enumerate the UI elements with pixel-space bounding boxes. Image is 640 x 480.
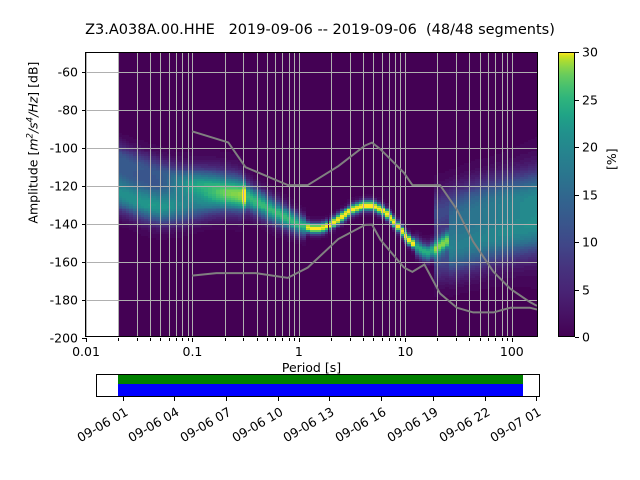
colorbar-tick [575, 100, 579, 101]
colorbar [558, 52, 575, 337]
x-tick [299, 338, 300, 342]
colorbar-tick [575, 290, 579, 291]
ppsd-axes: 0.010.1110100-200-180-160-140-120-100-80… [85, 52, 538, 337]
x-tick-label: 1 [295, 344, 303, 359]
y-tick-label: -160 [50, 255, 78, 270]
colorbar-tick [575, 337, 579, 338]
x-tick [192, 338, 193, 342]
timeline-tick [226, 397, 227, 401]
x-tick-minor [495, 338, 496, 341]
x-tick-label: 0.01 [72, 344, 100, 359]
timeline-tick [381, 397, 382, 401]
y-tick-label: -140 [50, 217, 78, 232]
x-tick-minor [282, 338, 283, 341]
x-tick-minor [382, 338, 383, 341]
x-tick-minor [176, 338, 177, 341]
x-tick [86, 338, 87, 342]
y-tick [82, 224, 86, 225]
y-tick-label: -100 [50, 141, 78, 156]
x-tick-minor [350, 338, 351, 341]
timeline-blue-bar [118, 384, 523, 396]
x-tick-minor [437, 338, 438, 341]
y-tick-label: -120 [50, 179, 78, 194]
colorbar-tick [575, 195, 579, 196]
colorbar-tick-label: 10 [582, 235, 598, 250]
x-tick-minor [275, 338, 276, 341]
x-tick-minor [331, 338, 332, 341]
colorbar-tick [575, 52, 579, 53]
coverage-timeline[interactable] [96, 374, 540, 397]
colorbar-tick [575, 242, 579, 243]
x-axis-title: Period [s] [85, 360, 538, 375]
x-tick-minor [188, 338, 189, 341]
timeline-tick [329, 397, 330, 401]
y-axis-title: Amplitude [m2/s4/Hz] [dB] [25, 18, 40, 268]
x-tick-minor [469, 338, 470, 341]
timeline-tick [433, 397, 434, 401]
colorbar-tick-label: 25 [582, 92, 598, 107]
plot-title: Z3.A038A.00.HHE 2019-09-06 -- 2019-09-06… [0, 22, 640, 38]
y-tick [82, 72, 86, 73]
x-tick-minor [150, 338, 151, 341]
timeline-tick [174, 397, 175, 401]
x-tick-minor [225, 338, 226, 341]
x-tick-minor [389, 338, 390, 341]
y-tick-label: -180 [50, 293, 78, 308]
colorbar-tick-label: 15 [582, 187, 598, 202]
timeline-tick [536, 397, 537, 401]
x-tick-label: 10 [397, 344, 413, 359]
y-tick [82, 262, 86, 263]
timeline-tick [278, 397, 279, 401]
x-tick-minor [243, 338, 244, 341]
y-tick-label: -80 [58, 103, 78, 118]
colorbar-tick [575, 147, 579, 148]
x-tick-minor [373, 338, 374, 341]
x-tick-minor [160, 338, 161, 341]
x-tick-minor [395, 338, 396, 341]
y-tick [82, 338, 86, 339]
x-tick-minor [257, 338, 258, 341]
y-tick-label: -60 [58, 65, 78, 80]
ppsd-data-clip [86, 53, 537, 336]
x-tick [405, 338, 406, 342]
x-tick-minor [118, 338, 119, 341]
timeline-tick [485, 397, 486, 401]
y-axis-title-text: Amplitude [m2/s4/Hz] [dB] [26, 62, 41, 224]
noise-model-nlnm [192, 225, 537, 313]
y-tick [82, 110, 86, 111]
x-tick-minor [294, 338, 295, 341]
colorbar-tick-label: 0 [582, 330, 590, 345]
timeline-tick [123, 397, 124, 401]
colorbar-title: [%] [604, 148, 619, 170]
x-tick-minor [363, 338, 364, 341]
noise-model-nhnm [192, 131, 537, 306]
x-tick-minor [289, 338, 290, 341]
y-tick [82, 300, 86, 301]
colorbar-tick-label: 20 [582, 140, 598, 155]
x-tick-minor [507, 338, 508, 341]
y-tick [82, 186, 86, 187]
y-tick [82, 148, 86, 149]
colorbar-tick-label: 5 [582, 282, 590, 297]
noise-model-curves [86, 53, 537, 336]
x-tick-minor [400, 338, 401, 341]
x-tick [512, 338, 513, 342]
timeline-green-bar [118, 375, 523, 384]
x-tick-minor [488, 338, 489, 341]
x-tick-label: 100 [500, 344, 524, 359]
y-tick-label: -200 [50, 331, 78, 346]
x-tick-minor [137, 338, 138, 341]
x-tick-minor [182, 338, 183, 341]
colorbar-tick-label: 30 [582, 45, 598, 60]
x-tick-minor [456, 338, 457, 341]
x-tick-minor [169, 338, 170, 341]
x-tick-minor [480, 338, 481, 341]
x-tick-minor [267, 338, 268, 341]
x-tick-label: 0.1 [183, 344, 203, 359]
x-tick-minor [502, 338, 503, 341]
